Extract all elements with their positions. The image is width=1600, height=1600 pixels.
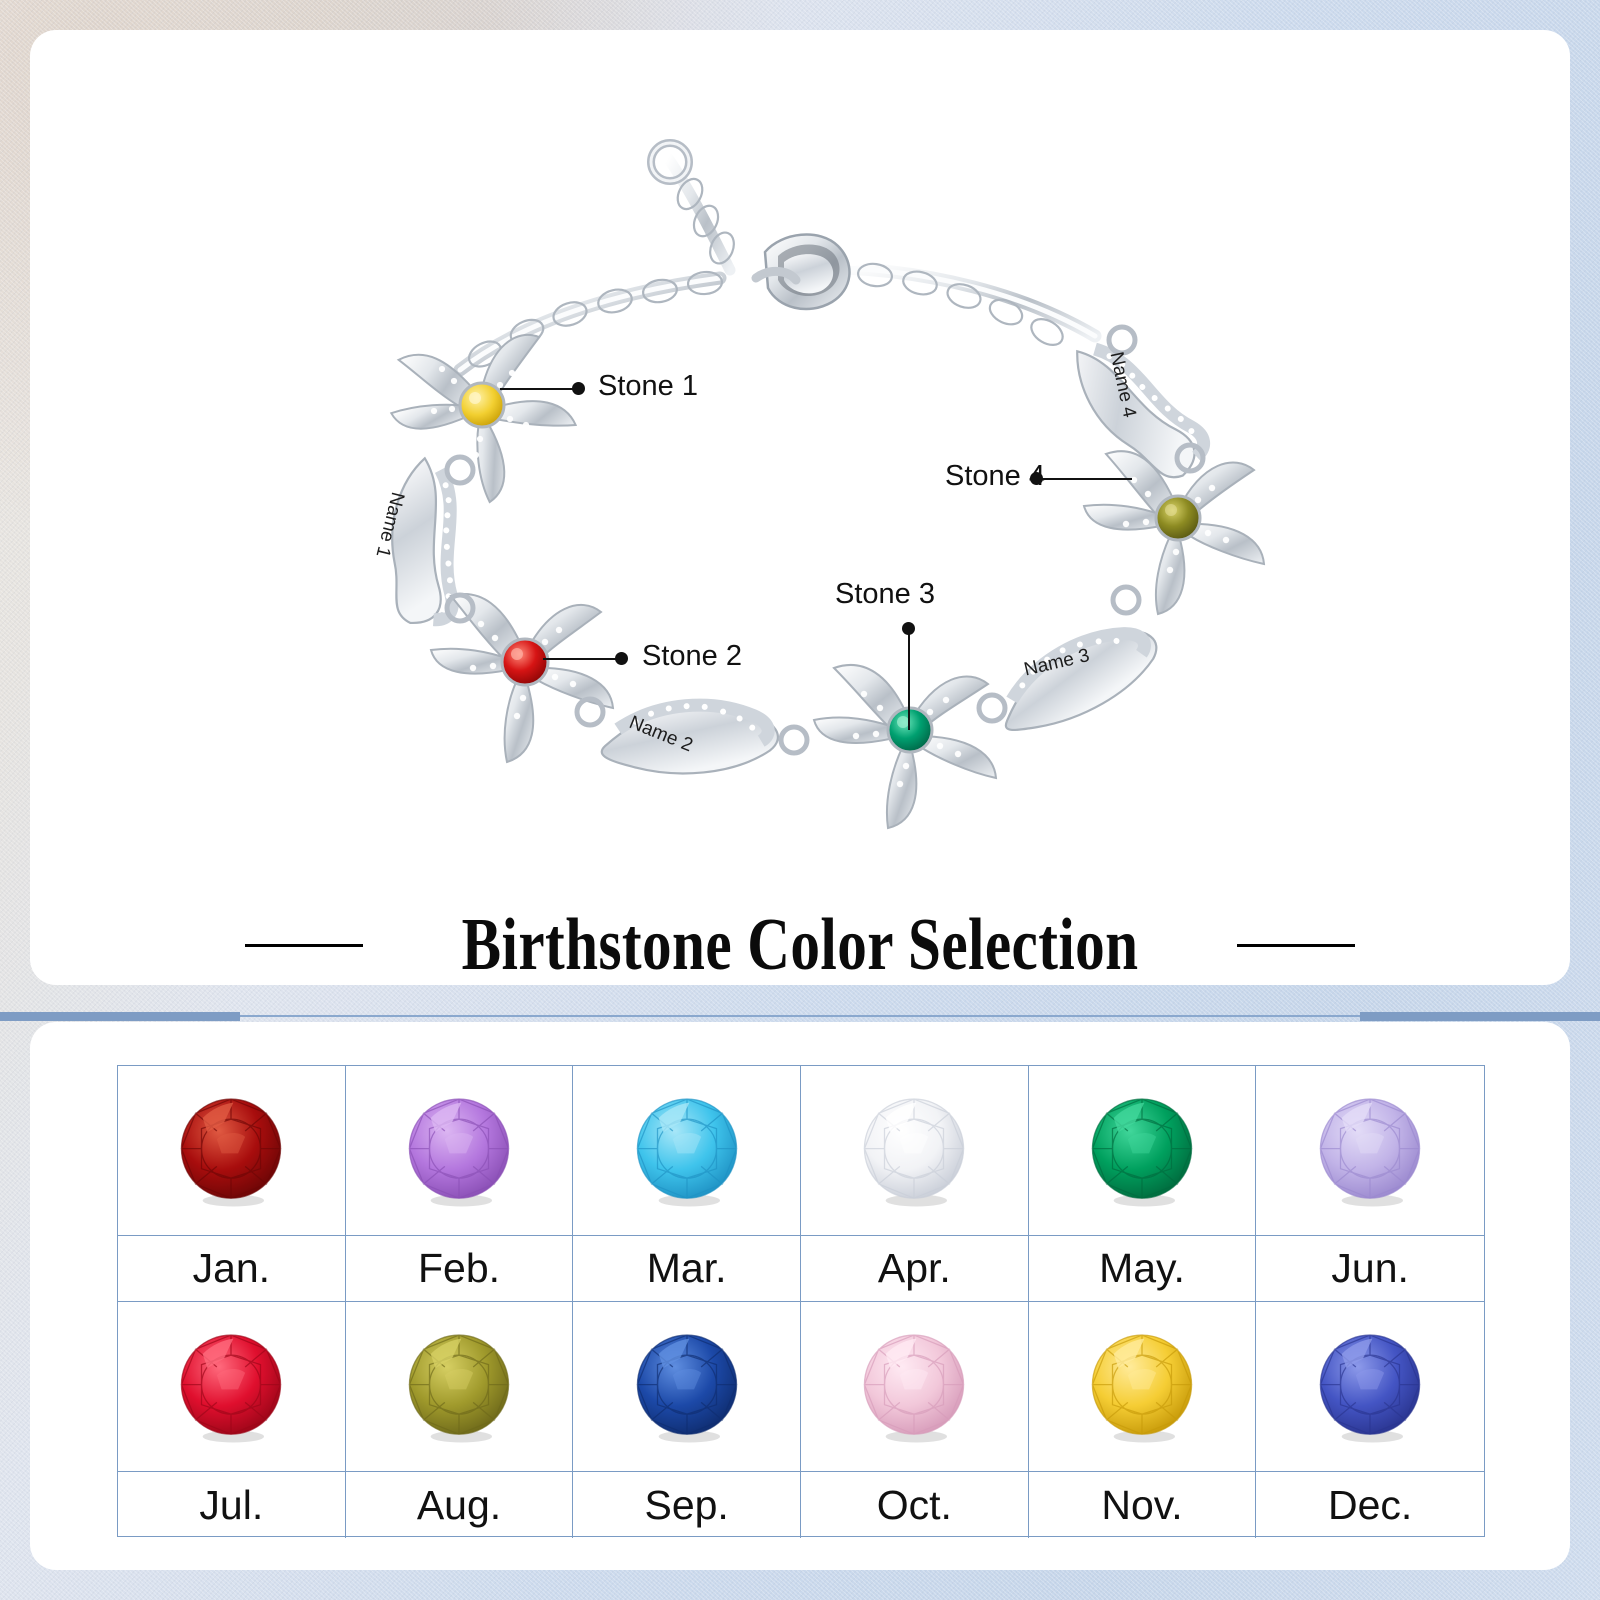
birthstone-cell-apr[interactable] (801, 1066, 1029, 1236)
month-label-cell[interactable]: Feb. (346, 1236, 574, 1302)
gem-icon (855, 1092, 973, 1210)
month-label-cell[interactable]: Aug. (346, 1472, 574, 1538)
title-rule-right (1237, 944, 1355, 947)
callout-2-leader (543, 658, 619, 660)
month-label-cell[interactable]: Oct. (801, 1472, 1029, 1538)
month-label-cell[interactable]: Mar. (573, 1236, 801, 1302)
gem-icon (628, 1328, 746, 1446)
month-label-cell[interactable]: Sep. (573, 1472, 801, 1538)
gem-icon (1083, 1092, 1201, 1210)
gem-icon (1083, 1328, 1201, 1446)
month-label: Apr. (878, 1245, 951, 1292)
month-label: Feb. (418, 1245, 500, 1292)
page-title: Birthstone Color Selection (462, 905, 1139, 985)
month-label-cell[interactable]: May. (1029, 1236, 1257, 1302)
birthstone-cell-jul[interactable] (118, 1302, 346, 1472)
month-label: Jun. (1331, 1245, 1409, 1292)
charm-3 (814, 665, 996, 828)
month-label-cell[interactable]: Jan. (118, 1236, 346, 1302)
month-label: Jul. (199, 1482, 263, 1529)
month-label-cell[interactable]: Dec. (1256, 1472, 1484, 1538)
month-label: Oct. (877, 1482, 952, 1529)
month-label: Sep. (644, 1482, 728, 1529)
product-image: Name 1 Name 2 Name 3 Name 4 Stone 1 Ston… (30, 40, 1570, 910)
birthstone-cell-aug[interactable] (346, 1302, 574, 1472)
callout-stone-3: Stone 3 (835, 578, 935, 611)
month-label-cell[interactable]: Nov. (1029, 1472, 1257, 1538)
callout-2-dot (615, 652, 628, 665)
month-label: May. (1099, 1245, 1185, 1292)
birthstone-cell-oct[interactable] (801, 1302, 1029, 1472)
callout-1-dot (572, 382, 585, 395)
birthstone-cell-sep[interactable] (573, 1302, 801, 1472)
birthstone-cell-may[interactable] (1029, 1066, 1257, 1236)
callout-1-leader (500, 388, 576, 390)
bracelet-illustration (30, 40, 1570, 910)
section-divider (0, 1012, 1600, 1020)
divider-cap-left (0, 1012, 240, 1021)
callout-3-leader (908, 632, 910, 730)
birthstone-cell-jun[interactable] (1256, 1066, 1484, 1236)
month-label-cell[interactable]: Jun. (1256, 1236, 1484, 1302)
birthstone-cell-dec[interactable] (1256, 1302, 1484, 1472)
divider-cap-right (1360, 1012, 1600, 1021)
section-title-group: Birthstone Color Selection (0, 905, 1600, 985)
callout-4-leader (1040, 478, 1132, 480)
callout-3-dot (902, 622, 915, 635)
gem-icon (855, 1328, 973, 1446)
gem-icon (172, 1092, 290, 1210)
title-rule-left (245, 944, 363, 947)
month-label-cell[interactable]: Jul. (118, 1472, 346, 1538)
callout-stone-4: Stone 4 (945, 460, 1045, 493)
birthstone-cell-jan[interactable] (118, 1066, 346, 1236)
callout-stone-2: Stone 2 (642, 640, 742, 673)
birthstone-cell-nov[interactable] (1029, 1302, 1257, 1472)
birthstone-table: Jan.Feb.Mar.Apr.May.Jun. (117, 1065, 1485, 1537)
gem-icon (400, 1092, 518, 1210)
month-label: Mar. (647, 1245, 727, 1292)
month-label-cell[interactable]: Apr. (801, 1236, 1029, 1302)
gem-icon (628, 1092, 746, 1210)
month-label: Aug. (417, 1482, 501, 1529)
callout-stone-1: Stone 1 (598, 370, 698, 403)
gem-icon (400, 1328, 518, 1446)
gem-icon (1311, 1092, 1429, 1210)
gem-icon (1311, 1328, 1429, 1446)
birthstone-cell-feb[interactable] (346, 1066, 574, 1236)
month-label: Nov. (1101, 1482, 1182, 1529)
month-label: Jan. (193, 1245, 271, 1292)
birthstone-cell-mar[interactable] (573, 1066, 801, 1236)
month-label: Dec. (1328, 1482, 1412, 1529)
gem-icon (172, 1328, 290, 1446)
